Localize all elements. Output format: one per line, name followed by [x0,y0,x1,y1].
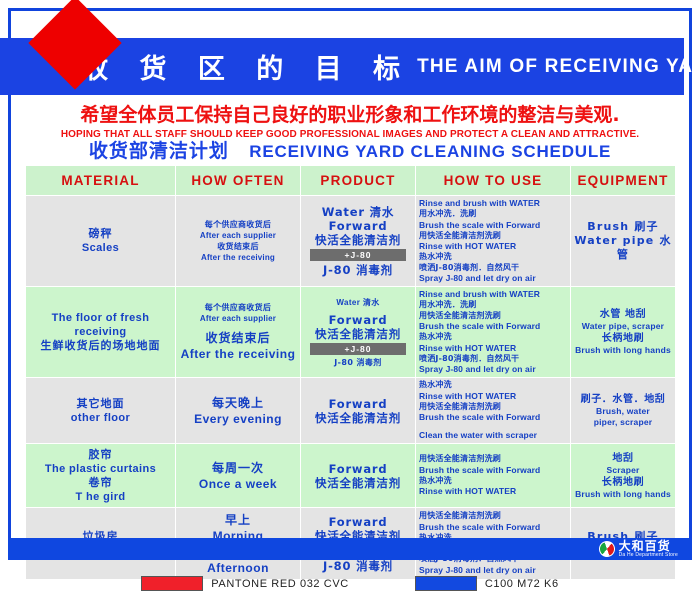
color-legend: PANTONE RED 032 CVC C100 M72 K6 [0,576,700,591]
how-to-use-line: 热水冲洗 [419,476,567,487]
how-to-use-line: Spray J-80 and let dry on air [419,565,567,576]
equipment-line: Water pipe 水管 [574,234,672,262]
cell-product: Forward快活全能清洁剂 [301,378,416,444]
cleaning-schedule-table: MATERIAL HOW OFTEN PRODUCT HOW TO USE EQ… [25,165,676,580]
equipment-line: Brush, water [574,406,672,417]
product-additive-bar: +J-80 [310,249,406,261]
product-line: 快活全能清洁剂 [304,476,412,490]
cell-equipment: Brush 刷子Water pipe 水管 [571,196,676,287]
product-line: J-80 消毒剂 [304,559,412,573]
cell-how-to-use: 用快活全能清洁剂洗刷Brush the scale with Forward热水… [416,444,571,508]
material-en-2: T he gird [29,490,172,504]
equipment-line: Brush 刷子 [574,220,672,234]
how-to-use-line: Brush the scale with Forward [419,465,567,476]
how-to-use-line: Rinse with HOT WATER [419,486,567,497]
material-cn: 磅秤 [29,227,172,241]
cell-how-to-use: Rinse and brush with WATER用水冲洗．洗刷Brush t… [416,196,571,287]
cell-how-to-use: 热水冲洗Rinse with HOT WATER用快活全能清洁剂洗刷Brush … [416,378,571,444]
table-header-row: MATERIAL HOW OFTEN PRODUCT HOW TO USE EQ… [26,166,676,196]
how-often-cn: 每个供应商收货后 [179,302,297,313]
product-line: 快活全能清洁剂 [304,233,412,247]
product-line: Forward [304,515,412,529]
cell-equipment: 地刮Scraper长柄地刷Brush with long hands [571,444,676,508]
legend-label-red: PANTONE RED 032 CVC [211,578,349,590]
material-cn: 生鲜收货后的场地地面 [29,339,172,353]
column-header-material: MATERIAL [26,166,176,196]
how-to-use-line: 热水冲洗 [419,252,567,263]
equipment-line: 长柄地刷 [574,476,672,489]
swatch-red [141,576,203,591]
column-header-how-often: HOW OFTEN [176,166,301,196]
frame-top-border [8,8,692,11]
how-to-use-line: 热水冲洗 [419,332,567,343]
cell-material: 其它地面other floor [26,378,176,444]
how-to-use-line: 用快活全能清洁剂洗刷 [419,311,567,322]
how-often-en: Afternoon [179,560,297,576]
product-line: Forward [304,462,412,476]
equipment-line: Brush with long hands [574,345,672,356]
material-cn: 胶帘 [29,448,172,462]
table-header: MATERIAL HOW OFTEN PRODUCT HOW TO USE EQ… [26,166,676,196]
column-header-how-to-use: HOW TO USE [416,166,571,196]
legend-item-blue: C100 M72 K6 [415,576,559,591]
how-to-use-line: Rinse with HOT WATER [419,241,567,252]
how-to-use-line: 喷洒J-80消毒剂．自然风干 [419,263,567,274]
slogan-block: 希望全体员工保持自己良好的职业形象和工作环境的整洁与美观. HOPING THA… [0,100,700,140]
how-to-use-line: Rinse with HOT WATER [419,343,567,354]
how-to-use-line: Spray J-80 and let dry on air [419,273,567,284]
product-line: J-80 消毒剂 [304,263,412,277]
cell-product: Forward快活全能清洁剂 [301,444,416,508]
how-to-use-line: 用快活全能清洁剂洗刷 [419,231,567,242]
how-to-use-line: Rinse with HOT WATER [419,391,567,402]
cell-equipment: 刷子．水管．地刮Brush, waterpiper, scraper [571,378,676,444]
frame-right-border [689,8,692,560]
how-to-use-line: Spray J-80 and let dry on air [419,364,567,375]
footer-bar: 大和百货 Da He Department Store [8,538,692,560]
equipment-line: 地刮 [574,452,672,465]
how-to-use-line: 用快活全能清洁剂洗刷 [419,454,567,465]
swatch-blue [415,576,477,591]
cell-product: Water 清水Forward快活全能清洁剂+J-80J-80 消毒剂 [301,287,416,378]
equipment-line: Scraper [574,465,672,476]
how-to-use-line: 用快活全能清洁剂洗刷 [419,402,567,413]
how-to-use-line: 用快活全能清洁剂洗刷 [419,511,567,522]
equipment-line: 刷子．水管．地刮 [574,393,672,406]
how-often-cn: 每天晚上 [179,395,297,411]
how-often-cn: 每个供应商收货后 [179,219,297,230]
equipment-line: Brush with long hands [574,489,672,500]
material-en: other floor [29,411,172,425]
product-line: Water 清水 [304,297,412,308]
cell-material: The floor of fresh receiving生鲜收货后的场地地面 [26,287,176,378]
column-header-product: PRODUCT [301,166,416,196]
material-en: The plastic curtains [29,462,172,476]
how-to-use-line: 用水冲洗．洗刷 [419,300,567,311]
cell-how-often: 每天晚上Every evening [176,378,301,444]
cell-product: Water 清水Forward快活全能清洁剂+J-80J-80 消毒剂 [301,196,416,287]
product-line: 快活全能清洁剂 [304,327,412,341]
how-to-use-line: 喷洒J-80消毒剂．自然风干 [419,354,567,365]
how-to-use-line: 热水冲洗 [419,380,567,391]
page-title-en: THE AIM OF RECEIVING YARD [417,56,700,78]
how-to-use-line: Brush the scale with Forward [419,412,567,423]
company-logo: 大和百货 Da He Department Store [599,540,678,558]
equipment-line: 长柄地刷 [574,332,672,345]
how-to-use-line: Rinse and brush with WATER [419,198,567,209]
logo-text: 大和百货 Da He Department Store [619,540,678,558]
subtitle-block: 收货部清洁计划 RECEIVING YARD CLEANING SCHEDULE [0,136,700,163]
table-row: The floor of fresh receiving生鲜收货后的场地地面每个… [26,287,676,378]
how-often-cn: 收货结束后 [179,241,297,252]
product-line: Forward [304,313,412,327]
column-header-equipment: EQUIPMENT [571,166,676,196]
cell-equipment: 水管 地刮Water pipe, scraper长柄地刷Brush with l… [571,287,676,378]
logo-name-cn: 大和百货 [619,540,678,552]
how-often-en: After the receiving [179,252,297,263]
poster-root: 收 货 区 的 目 标 THE AIM OF RECEIVING YARD 希望… [0,0,700,600]
table-row: 胶帘The plastic curtains卷帘T he gird每周一次Onc… [26,444,676,508]
how-often-cn: 早上 [179,512,297,528]
equipment-line: 水管 地刮 [574,308,672,321]
product-line: Forward [304,397,412,411]
how-often-en: After the receiving [179,346,297,362]
how-to-use-line: Brush the scale with Forward [419,321,567,332]
material-cn: 其它地面 [29,397,172,411]
cell-material: 胶帘The plastic curtains卷帘T he gird [26,444,176,508]
table-row: 其它地面other floor每天晚上Every eveningForward快… [26,378,676,444]
logo-name-en: Da He Department Store [619,553,678,558]
how-to-use-line: Brush the scale with Forward [419,522,567,533]
material-cn-2: 卷帘 [29,476,172,490]
cell-how-often: 每个供应商收货后After each supplier收货结束后After th… [176,287,301,378]
product-additive-bar: +J-80 [310,343,406,355]
product-line: Forward [304,219,412,233]
how-often-en: After each supplier [179,230,297,241]
how-to-use-line: Rinse and brush with WATER [419,289,567,300]
how-to-use-line: Clean the water with scraper [419,430,567,441]
how-to-use-line: Brush the scale with Forward [419,220,567,231]
equipment-line: Water pipe, scraper [574,321,672,332]
how-often-cn: 收货结束后 [179,330,297,346]
cell-how-to-use: Rinse and brush with WATER用水冲洗．洗刷用快活全能清洁… [416,287,571,378]
how-often-en: Once a week [179,476,297,492]
how-often-cn: 每周一次 [179,460,297,476]
table-body: 磅秤Scales每个供应商收货后After each supplier收货结束后… [26,196,676,580]
logo-circle-icon [596,539,617,560]
legend-item-red: PANTONE RED 032 CVC [141,576,349,591]
material-en: The floor of fresh receiving [29,311,172,339]
how-often-en: After each supplier [179,313,297,324]
cell-how-often: 每周一次Once a week [176,444,301,508]
cell-material: 磅秤Scales [26,196,176,287]
table-row: 磅秤Scales每个供应商收货后After each supplier收货结束后… [26,196,676,287]
product-line: J-80 消毒剂 [304,357,412,368]
how-often-en: Every evening [179,411,297,427]
product-line: Water 清水 [304,205,412,219]
subtitle-cn: 收货部清洁计划 [89,140,229,162]
slogan-cn: 希望全体员工保持自己良好的职业形象和工作环境的整洁与美观. [0,100,700,127]
equipment-line: piper, scraper [574,417,672,428]
how-to-use-line: 用水冲洗．洗刷 [419,209,567,220]
product-line: 快活全能清洁剂 [304,411,412,425]
subtitle-en: RECEIVING YARD CLEANING SCHEDULE [249,142,611,161]
cell-how-often: 每个供应商收货后After each supplier收货结束后After th… [176,196,301,287]
page-title-cn: 收 货 区 的 目 标 [81,47,411,86]
material-en: Scales [29,241,172,255]
legend-label-blue: C100 M72 K6 [485,578,559,590]
